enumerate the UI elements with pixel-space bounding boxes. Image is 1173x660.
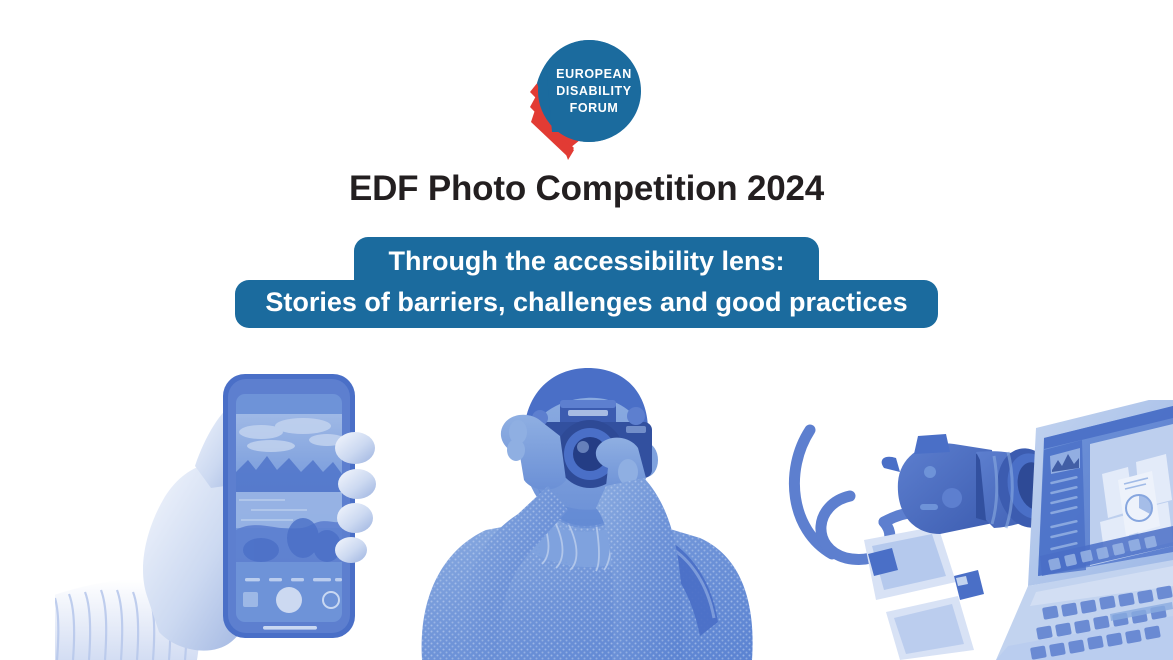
logo-line-1: EUROPEAN (556, 67, 632, 81)
photo-camera-and-laptop-svg (780, 400, 1173, 660)
camera-mode-dial (942, 488, 962, 508)
photo-hand-holding-smartphone (55, 360, 415, 660)
photo-hand-holding-smartphone-svg (55, 360, 415, 660)
poster-canvas: EUROPEAN DISABILITY FORUM EDF Photo Comp… (0, 0, 1173, 660)
home-indicator (263, 626, 317, 630)
page-title: EDF Photo Competition 2024 (0, 168, 1173, 210)
camera-brand-plate (568, 410, 608, 416)
subtitle-line-1: Through the accessibility lens: (354, 237, 818, 282)
subtitle-line-2: Stories of barriers, challenges and good… (235, 280, 937, 329)
photo-person-with-slr-camera-svg (400, 360, 780, 660)
logo-svg: EUROPEAN DISABILITY FORUM (522, 38, 652, 160)
photo-person-with-slr-camera (400, 360, 780, 660)
subtitle-banner: Through the accessibility lens: Stories … (0, 237, 1173, 328)
smartphone (223, 374, 355, 638)
camera-mode-labels (245, 578, 342, 581)
european-disability-forum-logo: EUROPEAN DISABILITY FORUM (522, 38, 652, 160)
camera-shutter-dial (627, 407, 645, 425)
photo-camera-and-laptop (780, 400, 1173, 660)
printed-photos (864, 526, 974, 660)
logo-line-2: DISABILITY (556, 84, 632, 98)
laptop (996, 400, 1173, 660)
camera-shutter-button (276, 587, 302, 613)
camera-last-shot-thumbnail (243, 592, 258, 607)
logo-line-3: FORUM (569, 101, 618, 115)
photo-strip (0, 340, 1173, 660)
